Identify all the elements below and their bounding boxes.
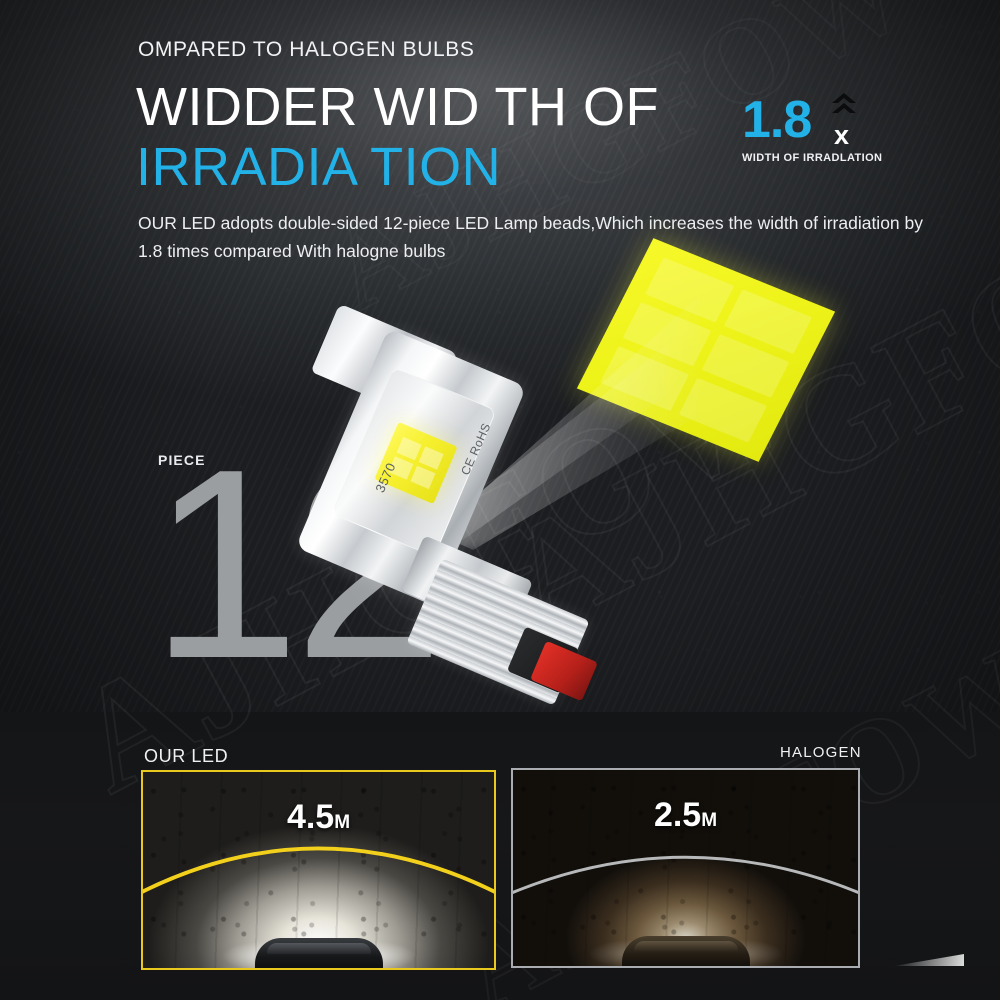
double-chevron-up-icon xyxy=(830,92,858,120)
kicker-text: OMPARED TO HALOGEN BULBS xyxy=(138,38,475,62)
description-paragraph: OUR LED adopts double-sided 12-piece LED… xyxy=(138,209,938,266)
product-infographic: AJHGFOW AJHGFOW AJHGFOW AJHGFOW OMPARED … xyxy=(0,0,1000,1000)
badge-multiplier: x xyxy=(834,122,849,149)
car-silhouette xyxy=(622,936,750,968)
led-bulb-product: 3570 CE RoHS xyxy=(300,320,700,720)
distance-unit: M xyxy=(701,810,717,831)
comparison-panel-led: 4.5M xyxy=(141,770,496,970)
piece-label: PIECE xyxy=(158,452,206,468)
badge-value: 1.8 xyxy=(742,94,811,146)
car-silhouette xyxy=(255,938,383,970)
distance-value: 4.5 xyxy=(287,798,334,836)
headline-accent: IRRADIA TION xyxy=(136,140,501,194)
distance-label-halogen: 2.5M xyxy=(513,796,858,835)
irradiation-badge: 1.8 x WIDTH OF IRRADLATION xyxy=(742,100,912,178)
distance-unit: M xyxy=(334,812,350,833)
distance-value: 2.5 xyxy=(654,796,701,834)
comparison-label-led: OUR LED xyxy=(144,746,228,767)
headline-primary: WIDDER WID TH OF xyxy=(136,80,659,134)
distance-label-led: 4.5M xyxy=(143,798,494,837)
comparison-panel-halogen: 2.5M xyxy=(511,768,860,968)
badge-caption: WIDTH OF IRRADLATION xyxy=(742,152,882,164)
comparison-label-halogen: HALOGEN xyxy=(780,744,862,761)
